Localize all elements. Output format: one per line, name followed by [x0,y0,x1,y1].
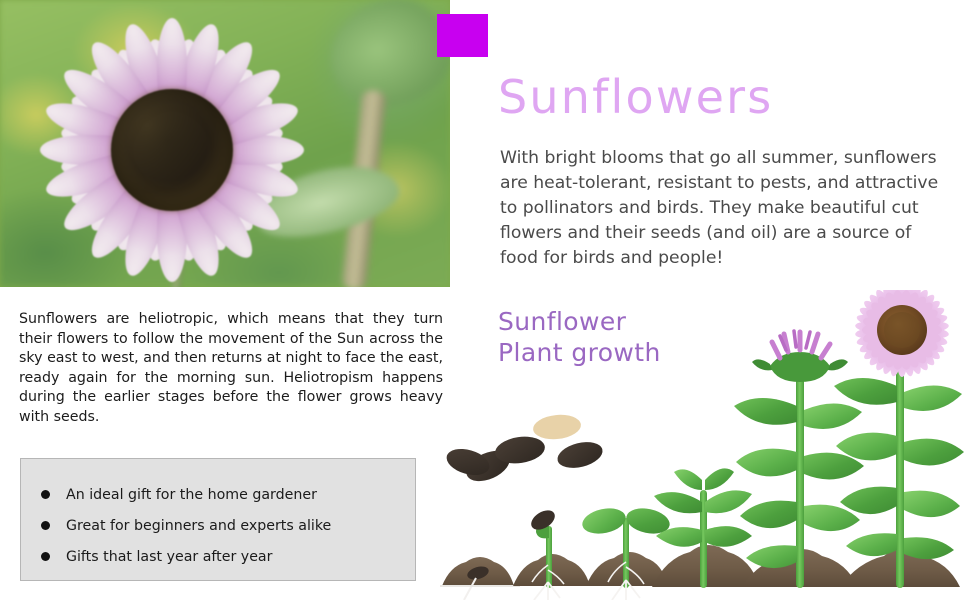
benefit-label: Gifts that last year after year [66,549,272,565]
benefit-label: An ideal gift for the home gardener [66,487,317,503]
bullet-dot-icon [41,490,50,499]
photo-content [0,0,450,287]
plant-growth-illustration: Sunflower Plant growth [440,290,970,600]
flower-bud-icon [752,331,848,382]
bullet-dot-icon [41,521,50,530]
growth-stage-6-flowering-plant [834,290,964,588]
magenta-accent-square [437,14,488,57]
bullet-dot-icon [41,552,50,561]
benefit-list-item: An ideal gift for the home gardener [41,479,405,510]
growth-stage-5-budding-plant [734,331,864,588]
growth-stage-1-seed [440,557,520,600]
heliotropism-paragraph: Sunflowers are heliotropic, which means … [19,310,443,428]
benefit-list-item: Great for beginners and experts alike [41,510,405,541]
loose-seeds-group [444,413,606,488]
benefits-list: An ideal gift for the home gardenerGreat… [41,479,405,572]
intro-paragraph: With bright blooms that go all summer, s… [500,146,948,271]
benefit-list-item: Gifts that last year after year [41,541,405,572]
benefits-panel: An ideal gift for the home gardenerGreat… [20,458,416,581]
growth-stages-svg [440,290,970,600]
growth-stage-2-sprout [513,506,590,600]
sunflower-head-icon [855,290,950,377]
benefit-label: Great for beginners and experts alike [66,518,331,534]
hero-sunflower-photo [0,0,450,287]
flower-disc-icon [111,89,233,211]
page-title: Sunflowers [498,74,773,120]
